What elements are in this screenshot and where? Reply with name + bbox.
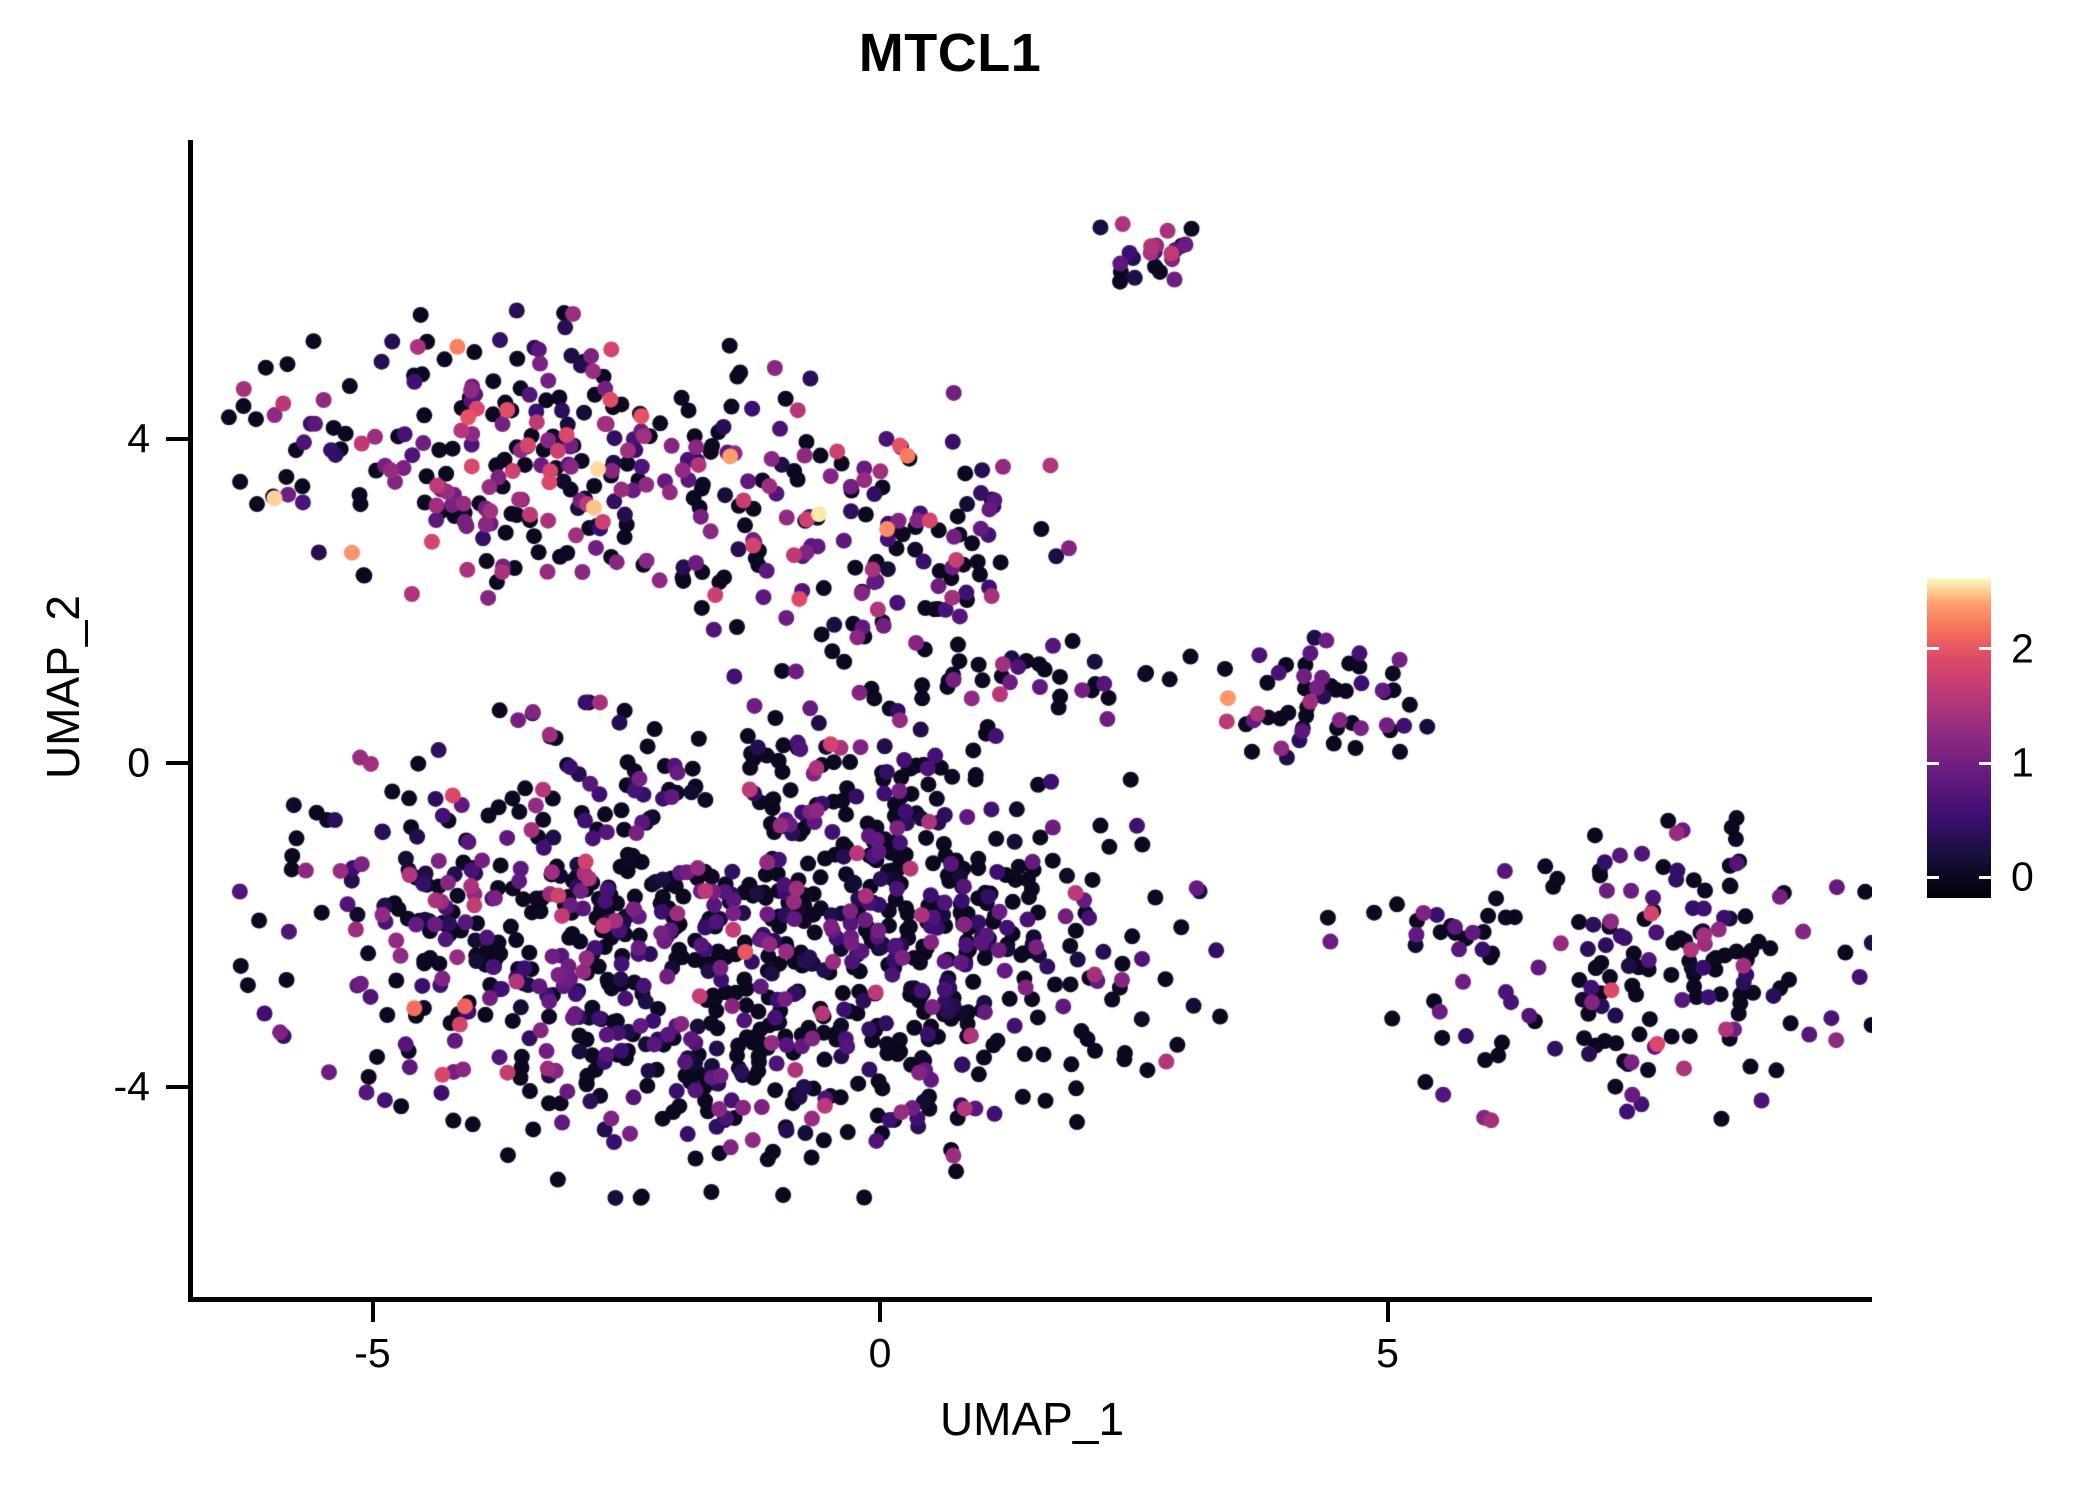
y-axis-line	[188, 140, 193, 1302]
colorbar-gradient	[1927, 578, 1991, 898]
y-tick-label: 4	[127, 416, 150, 463]
x-tick-label: 5	[1376, 1330, 1399, 1377]
colorbar-tick-label: 1	[2011, 740, 2034, 787]
colorbar-tick-mark	[1979, 876, 1991, 879]
x-axis-title: UMAP_1	[192, 1392, 1872, 1446]
x-axis-line	[188, 1297, 1872, 1302]
plot-panel	[192, 140, 1872, 1300]
x-tick-mark	[1386, 1300, 1390, 1322]
x-tick-label: 0	[869, 1330, 892, 1377]
colorbar-tick-mark	[1927, 762, 1939, 765]
umap-feature-plot: MTCL1 -404 -505 UMAP_1 UMAP_2 012	[0, 0, 2100, 1500]
x-tick-label: -5	[354, 1330, 390, 1377]
colorbar-legend: 012	[1927, 578, 1991, 898]
colorbar-tick-mark	[1979, 762, 1991, 765]
x-tick-mark	[371, 1300, 375, 1322]
y-tick-mark	[166, 1085, 190, 1089]
y-tick-mark	[166, 437, 190, 441]
scatter-points-layer	[192, 140, 1872, 1300]
y-axis-title: UMAP_2	[36, 387, 90, 987]
y-tick-label: -4	[114, 1064, 150, 1111]
colorbar-tick-label: 0	[2011, 854, 2034, 901]
x-tick-mark	[878, 1300, 882, 1322]
colorbar-tick-label: 2	[2011, 625, 2034, 672]
page-title: MTCL1	[0, 22, 1900, 84]
colorbar-tick-mark	[1979, 647, 1991, 650]
colorbar-tick-mark	[1927, 876, 1939, 879]
y-tick-mark	[166, 761, 190, 765]
colorbar-tick-mark	[1927, 647, 1939, 650]
y-tick-label: 0	[127, 740, 150, 787]
